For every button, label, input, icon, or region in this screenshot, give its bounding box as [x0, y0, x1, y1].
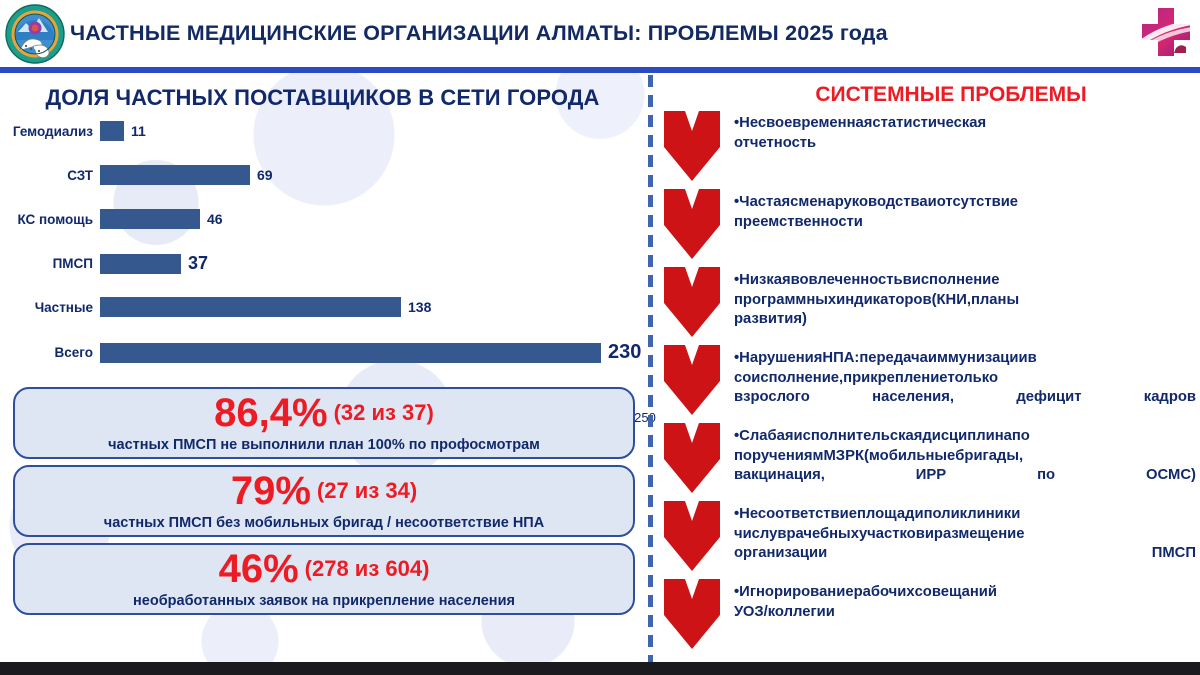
problem-line: УОЗ/коллегии [734, 603, 1196, 642]
chevron-down-icon [664, 111, 720, 181]
bar-value-label: 46 [207, 211, 223, 227]
chevron-down-icon [664, 579, 720, 649]
bar-value-label: 138 [408, 299, 431, 315]
problem-line: поручениям МЗ РК (мобильные бригады, [734, 447, 1196, 467]
bar-wrap: 230 [100, 341, 645, 364]
bar-row: Гемодиализ 11 [0, 121, 645, 141]
page-title: ЧАСТНЫЕ МЕДИЦИНСКИЕ ОРГАНИЗАЦИИ АЛМАТЫ: … [70, 21, 888, 46]
bar-value-label: 11 [131, 123, 146, 139]
problems-title: СИСТЕМНЫЕ ПРОБЛЕМЫ [716, 83, 1186, 107]
bar-value-label: 230 [608, 341, 641, 364]
problem-line: •Несоответствие площади поликлиники [734, 505, 1196, 525]
problem-line: развития) [734, 310, 1196, 349]
stat-description: частных ПМСП не выполнили план 100% по п… [108, 437, 540, 453]
problem-line: •Низкая вовлеченность в исполнение [734, 271, 1196, 291]
bottom-band [0, 662, 1200, 675]
slide-header: ЧАСТНЫЕ МЕДИЦИНСКИЕ ОРГАНИЗАЦИИ АЛМАТЫ: … [0, 0, 1200, 69]
stat-detail: (27 из 34) [317, 478, 417, 503]
stat-description: частных ПМСП без мобильных бригад / несо… [104, 515, 544, 531]
stat-percent: 86,4% [214, 391, 327, 435]
problem-line: организации ПМСП [734, 544, 1196, 583]
bar-wrap: 69 [100, 165, 645, 185]
stat-percent: 79% [231, 469, 311, 513]
title-panel: ЧАСТНЫЕ МЕДИЦИНСКИЕ ОРГАНИЗАЦИИ АЛМАТЫ: … [70, 0, 1130, 67]
problem-line: числу врачебных участков и размещение [734, 525, 1196, 545]
stat-headline: 46%(278 из 604) [219, 549, 430, 589]
bar-category-label: Гемодиализ [0, 124, 100, 139]
problem-line: отчетность [734, 134, 1196, 173]
left-column: ДОЛЯ ЧАСТНЫХ ПОСТАВЩИКОВ В СЕТИ ГОРОДА Г… [0, 73, 645, 662]
chevron-down-icon [664, 501, 720, 571]
bar [100, 209, 200, 229]
bar-row: ПМСП 37 [0, 253, 645, 274]
almaty-city-emblem-icon [4, 2, 66, 66]
chevron-down-icon [664, 423, 720, 493]
bar-category-label: СЗТ [0, 168, 100, 183]
bar-wrap: 11 [100, 121, 645, 141]
list-item: •Несвоевременная статистическая отчетнос… [734, 114, 1196, 173]
bar [100, 254, 181, 274]
bar-category-label: КС помощь [0, 212, 100, 227]
medical-cross-logo-icon [1138, 4, 1194, 64]
bar-row: КС помощь 46 [0, 209, 645, 229]
vertical-dashed-divider [648, 75, 653, 662]
problem-line: взрослого населения, дефицит кадров [734, 388, 1196, 427]
problem-line: •Игнорирование рабочих совещаний [734, 583, 1196, 603]
chevron-down-icon [664, 189, 720, 259]
header-rule [0, 67, 1200, 73]
problem-line: соисполнение, прикрепление только [734, 369, 1196, 389]
list-item: •Несоответствие площади поликлиники числ… [734, 505, 1196, 583]
stat-headline: 86,4%(32 из 37) [214, 393, 434, 433]
problem-line: •Частая смена руководства и отсутствие [734, 193, 1196, 213]
bar-value-label: 37 [188, 253, 208, 274]
bar-wrap: 37 [100, 253, 645, 274]
problem-line: программных индикаторов (КНИ, планы [734, 291, 1196, 311]
bar-row: Всего 230 [0, 341, 645, 364]
chart-title: ДОЛЯ ЧАСТНЫХ ПОСТАВЩИКОВ В СЕТИ ГОРОДА [0, 85, 645, 111]
stat-description: необработанных заявок на прикрепление на… [133, 593, 515, 609]
stat-card: 86,4%(32 из 37) частных ПМСП не выполнил… [13, 387, 635, 459]
problem-line: •Несвоевременная статистическая [734, 114, 1196, 134]
bar-wrap: 46 [100, 209, 645, 229]
bar-wrap: 138 [100, 297, 645, 317]
bar-row: СЗТ 69 [0, 165, 645, 185]
slide: ЧАСТНЫЕ МЕДИЦИНСКИЕ ОРГАНИЗАЦИИ АЛМАТЫ: … [0, 0, 1200, 675]
list-item: •Игнорирование рабочих совещаний УОЗ/кол… [734, 583, 1196, 642]
problem-line: •Слабая исполнительская дисциплина по [734, 427, 1196, 447]
list-item: •Слабая исполнительская дисциплина по по… [734, 427, 1196, 505]
chevron-down-icon [664, 267, 720, 337]
bar [100, 343, 601, 363]
problem-line: преемственности [734, 213, 1196, 252]
stat-detail: (278 из 604) [305, 556, 430, 581]
stat-headline: 79%(27 из 34) [231, 471, 417, 511]
stat-detail: (32 из 37) [334, 400, 434, 425]
list-item: •Нарушения НПА: передача иммунизации в с… [734, 349, 1196, 427]
stat-card: 79%(27 из 34) частных ПМСП без мобильных… [13, 465, 635, 537]
problem-line: вакцинация, ИРР по ОСМС) [734, 466, 1196, 505]
bar [100, 297, 401, 317]
list-item: •Низкая вовлеченность в исполнение прогр… [734, 271, 1196, 349]
chevron-down-icon [664, 345, 720, 415]
list-item: •Частая смена руководства и отсутствие п… [734, 193, 1196, 252]
right-column: СИСТЕМНЫЕ ПРОБЛЕМЫ •Несвоевременная стат… [658, 73, 1200, 662]
bar-category-label: Частные [0, 300, 100, 315]
stat-card: 46%(278 из 604) необработанных заявок на… [13, 543, 635, 615]
bar-row: Частные 138 [0, 297, 645, 317]
bar-category-label: Всего [0, 345, 100, 360]
chevron-rail [664, 111, 722, 656]
bar-category-label: ПМСП [0, 256, 100, 271]
bar-value-label: 69 [257, 167, 273, 183]
horizontal-bar-chart: Гемодиализ 11 СЗТ 69 КС помощь 46 [0, 121, 645, 406]
bar [100, 121, 124, 141]
problem-line: •Нарушения НПА: передача иммунизации в [734, 349, 1196, 369]
bar [100, 165, 250, 185]
stat-percent: 46% [219, 547, 299, 591]
